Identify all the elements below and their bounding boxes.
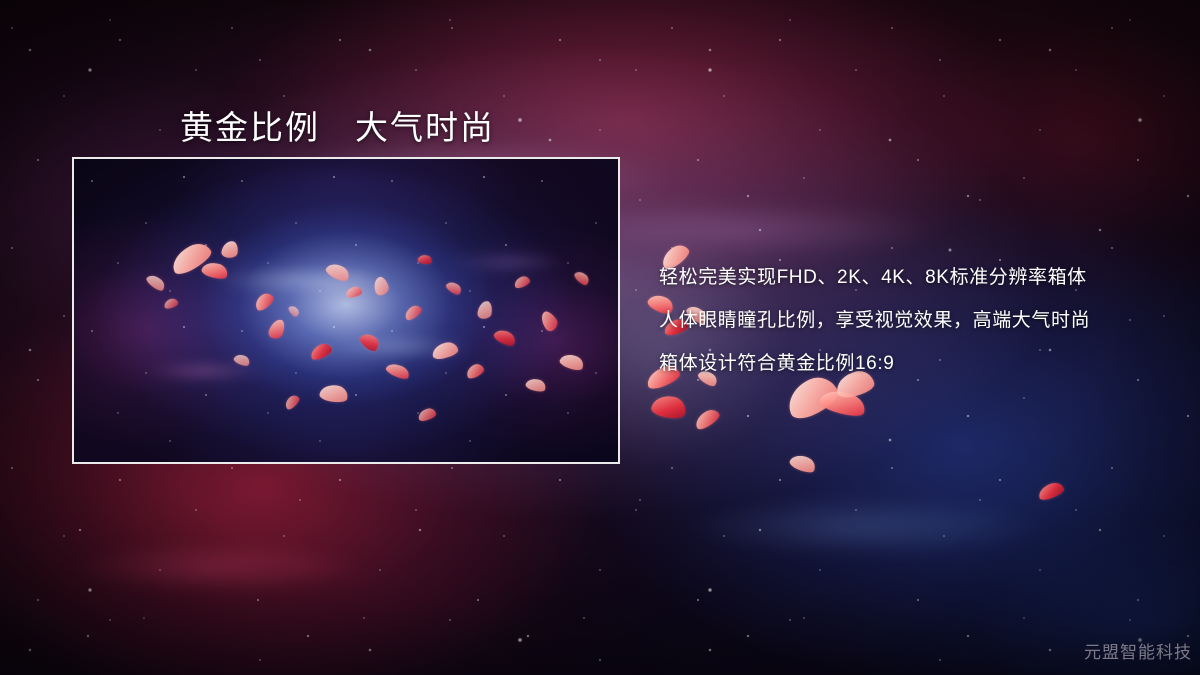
preview-starfield <box>74 159 618 462</box>
body-copy-line-1: 轻松完美实现FHD、2K、4K、8K标准分辨率箱体 <box>659 256 1179 299</box>
nebula-preview-frame <box>72 157 620 464</box>
presentation-slide: 黄金比例 大气时尚 轻松完美实现FHD、2K、4K、8K标准分辨率箱体 人体眼睛… <box>0 0 1200 675</box>
watermark-text: 元盟智能科技 <box>1084 638 1192 663</box>
flower-petal <box>1036 480 1065 501</box>
body-copy-line-2: 人体眼睛瞳孔比例，享受视觉效果，高端大气时尚 <box>659 299 1179 342</box>
body-copy-line-3: 箱体设计符合黄金比例16:9 <box>659 342 1179 385</box>
flower-petal <box>650 392 688 422</box>
body-copy-block: 轻松完美实现FHD、2K、4K、8K标准分辨率箱体 人体眼睛瞳孔比例，享受视觉效… <box>659 256 1179 385</box>
flower-petal <box>818 385 869 420</box>
slide-title: 黄金比例 大气时尚 <box>180 101 495 149</box>
flower-petal <box>692 406 722 431</box>
flower-petal <box>788 451 818 475</box>
